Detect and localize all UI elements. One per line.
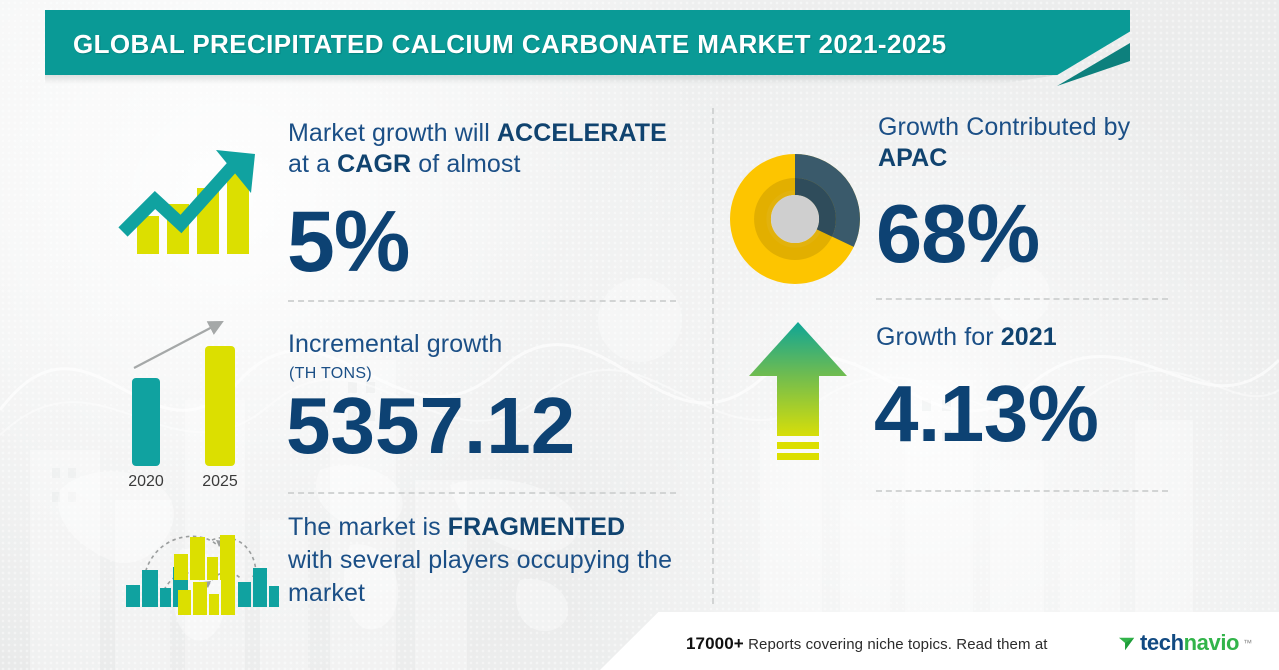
technavio-arrow-icon (1118, 634, 1137, 653)
divider-left-upper (288, 300, 676, 302)
growth-year-label: Growth for 2021 (876, 322, 1057, 353)
logo-trademark: ™ (1243, 638, 1252, 648)
divider-vertical-center (712, 108, 714, 604)
donut-chart-icon (730, 154, 860, 284)
panel-growth-year: Growth for 2021 4.13% (730, 310, 1170, 485)
cagr-line-1-bold: ACCELERATE (497, 119, 667, 147)
cagr-line-2: at a CAGR of almost (288, 149, 521, 180)
cagr-line-1: Market growth will ACCELERATE (288, 118, 667, 149)
incremental-label: Incremental growth (288, 329, 502, 360)
apac-region: APAC (878, 143, 947, 174)
svg-text:2025: 2025 (202, 473, 238, 490)
page-title: GLOBAL PRECIPITATED CALCIUM CARBONATE MA… (73, 29, 946, 60)
up-arrow-icon (743, 318, 853, 478)
panel-fragmentation: The market is FRAGMENTED with several pl… (110, 500, 690, 615)
apac-label: Growth Contributed by (878, 112, 1130, 143)
panel-incremental-growth: 2020 2025 Incremental growth (TH TONS) 5… (110, 305, 690, 485)
technavio-logo[interactable]: tech navio ™ (1118, 630, 1252, 656)
fragmentation-line-2: with several players occupying the (288, 545, 672, 576)
svg-text:2020: 2020 (128, 473, 164, 490)
logo-text-tech: tech (1140, 630, 1184, 656)
divider-right-upper (876, 298, 1168, 300)
fragmentation-line-1-plain: The market is (288, 513, 448, 541)
growth-arrow-chart-icon (115, 136, 275, 256)
apac-region-text: APAC (878, 144, 947, 172)
fragmentation-line-3: market (288, 578, 365, 609)
panel-cagr: Market growth will ACCELERATE at a CAGR … (110, 118, 690, 293)
fragmentation-line-1: The market is FRAGMENTED (288, 512, 625, 543)
city-cluster-icon (112, 510, 282, 615)
footer-report-count: 17000+ (686, 634, 744, 653)
divider-right-lower (876, 490, 1168, 492)
cagr-line-2-plain-a: at a (288, 150, 337, 178)
cagr-line-2-bold: CAGR (337, 150, 411, 178)
divider-left-lower (288, 492, 676, 494)
infographic-root: GLOBAL PRECIPITATED CALCIUM CARBONATE MA… (0, 0, 1279, 670)
cagr-line-2-plain-b: of almost (411, 150, 520, 178)
incremental-value: 5357.12 (286, 388, 575, 464)
growth-year-value: 4.13% (874, 376, 1098, 452)
logo-text-navio: navio (1184, 630, 1239, 656)
cagr-line-1-plain: Market growth will (288, 119, 497, 147)
bar-chart-icon: 2020 2025 (110, 308, 285, 493)
growth-year-value-year: 2021 (1001, 323, 1057, 351)
panel-apac: Growth Contributed by APAC 68% (730, 112, 1170, 292)
fragmentation-line-1-bold: FRAGMENTED (448, 513, 625, 541)
growth-year-label-text: Growth for (876, 323, 994, 351)
header-banner: GLOBAL PRECIPITATED CALCIUM CARBONATE MA… (45, 10, 1130, 75)
footer-caption: 17000+ Reports covering niche topics. Re… (686, 634, 1048, 654)
cagr-value: 5% (287, 202, 409, 284)
header-shadow (45, 75, 1130, 84)
footer-caption-text: Reports covering niche topics. Read them… (748, 636, 1047, 653)
apac-value: 68% (876, 195, 1039, 274)
